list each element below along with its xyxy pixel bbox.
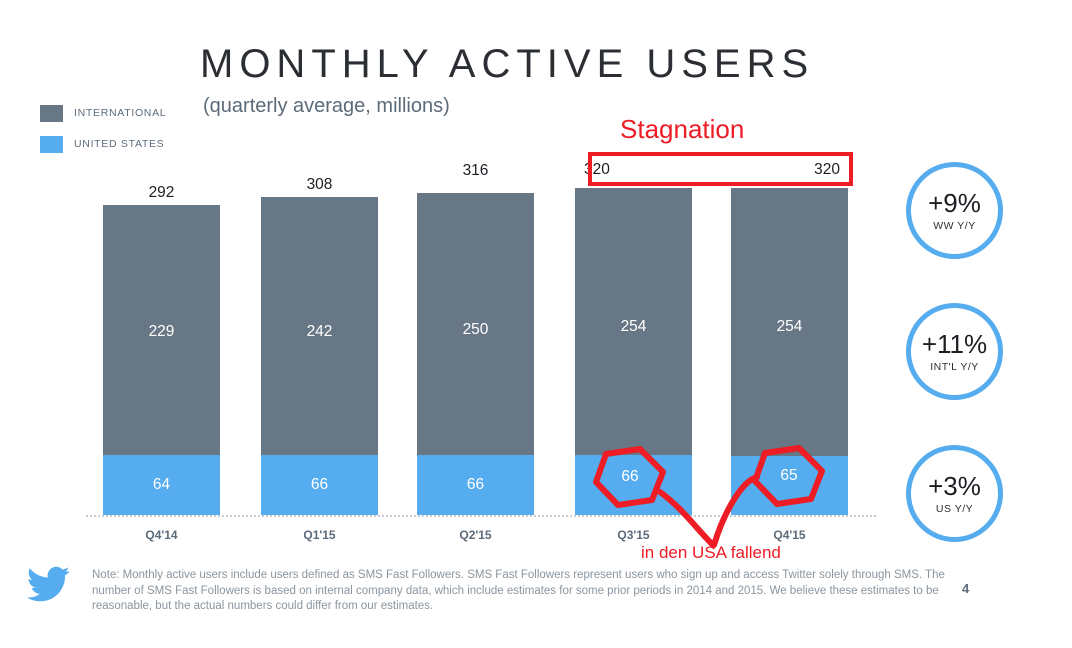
x-axis-line — [86, 515, 876, 517]
bar-segment-international-q215[interactable]: 250 — [417, 193, 534, 455]
bar-value-international-q414: 229 — [103, 323, 220, 341]
bar-segment-international-q414[interactable]: 229 — [103, 205, 220, 455]
bar-value-united-states-q115: 66 — [261, 476, 378, 494]
bar-value-international-q315: 254 — [575, 318, 692, 336]
bar-value-international-q415: 254 — [731, 318, 848, 336]
kpi-ww-yy[interactable]: +9% WW Y/Y — [906, 162, 1003, 259]
bar-value-international-q215: 250 — [417, 321, 534, 339]
bar-category-q415: Q4'15 — [731, 528, 848, 542]
kpi-value-intl: +11% — [922, 331, 987, 357]
page-number: 4 — [962, 581, 969, 596]
bar-group-q414[interactable]: 292 229 64 Q4'14 — [103, 0, 220, 648]
bar-category-q315: Q3'15 — [575, 528, 692, 542]
kpi-label-us: US Y/Y — [936, 503, 973, 515]
bar-segment-united-states-q414[interactable]: 64 — [103, 455, 220, 515]
bar-value-international-q115: 242 — [261, 323, 378, 341]
bar-total-q215: 316 — [417, 162, 534, 180]
bar-category-q115: Q1'15 — [261, 528, 378, 542]
bar-total-q115: 308 — [261, 176, 378, 194]
fallend-annotation-label: in den USA fallend — [641, 543, 781, 563]
bar-total-q414: 292 — [103, 184, 220, 202]
bar-segment-united-states-q415[interactable] — [731, 456, 848, 515]
kpi-us-yy[interactable]: +3% US Y/Y — [906, 445, 1003, 542]
bar-value-united-states-q414: 64 — [103, 476, 220, 494]
bar-segment-united-states-q215[interactable]: 66 — [417, 455, 534, 515]
stacked-bar-chart: 292 229 64 Q4'14 308 242 66 Q1'15 316 25… — [0, 0, 1072, 648]
bar-segment-international-q415[interactable]: 254 — [731, 188, 848, 456]
slide-canvas: MONTHLY ACTIVE USERS (quarterly average,… — [0, 0, 1072, 648]
bar-category-q215: Q2'15 — [417, 528, 534, 542]
kpi-label-ww: WW Y/Y — [933, 220, 975, 232]
bar-segment-international-q315[interactable]: 254 — [575, 188, 692, 455]
bar-group-q115[interactable]: 308 242 66 Q1'15 — [261, 0, 378, 648]
kpi-value-us: +3% — [928, 473, 981, 499]
stagnation-highlight-box — [588, 152, 853, 186]
hexagon-value-q415: 65 — [759, 467, 819, 485]
bar-value-united-states-q215: 66 — [417, 476, 534, 494]
hexagon-value-q315: 66 — [600, 468, 660, 486]
bar-segment-international-q115[interactable]: 242 — [261, 197, 378, 455]
bar-category-q414: Q4'14 — [103, 528, 220, 542]
bar-segment-united-states-q115[interactable]: 66 — [261, 455, 378, 515]
twitter-bird-icon — [22, 562, 74, 608]
kpi-intl-yy[interactable]: +11% INT'L Y/Y — [906, 303, 1003, 400]
kpi-value-ww: +9% — [928, 190, 981, 216]
bar-group-q215[interactable]: 316 250 66 Q2'15 — [417, 0, 534, 648]
stagnation-annotation-label: Stagnation — [620, 114, 744, 145]
kpi-label-intl: INT'L Y/Y — [930, 361, 979, 373]
footnote-text: Note: Monthly active users include users… — [92, 568, 947, 615]
